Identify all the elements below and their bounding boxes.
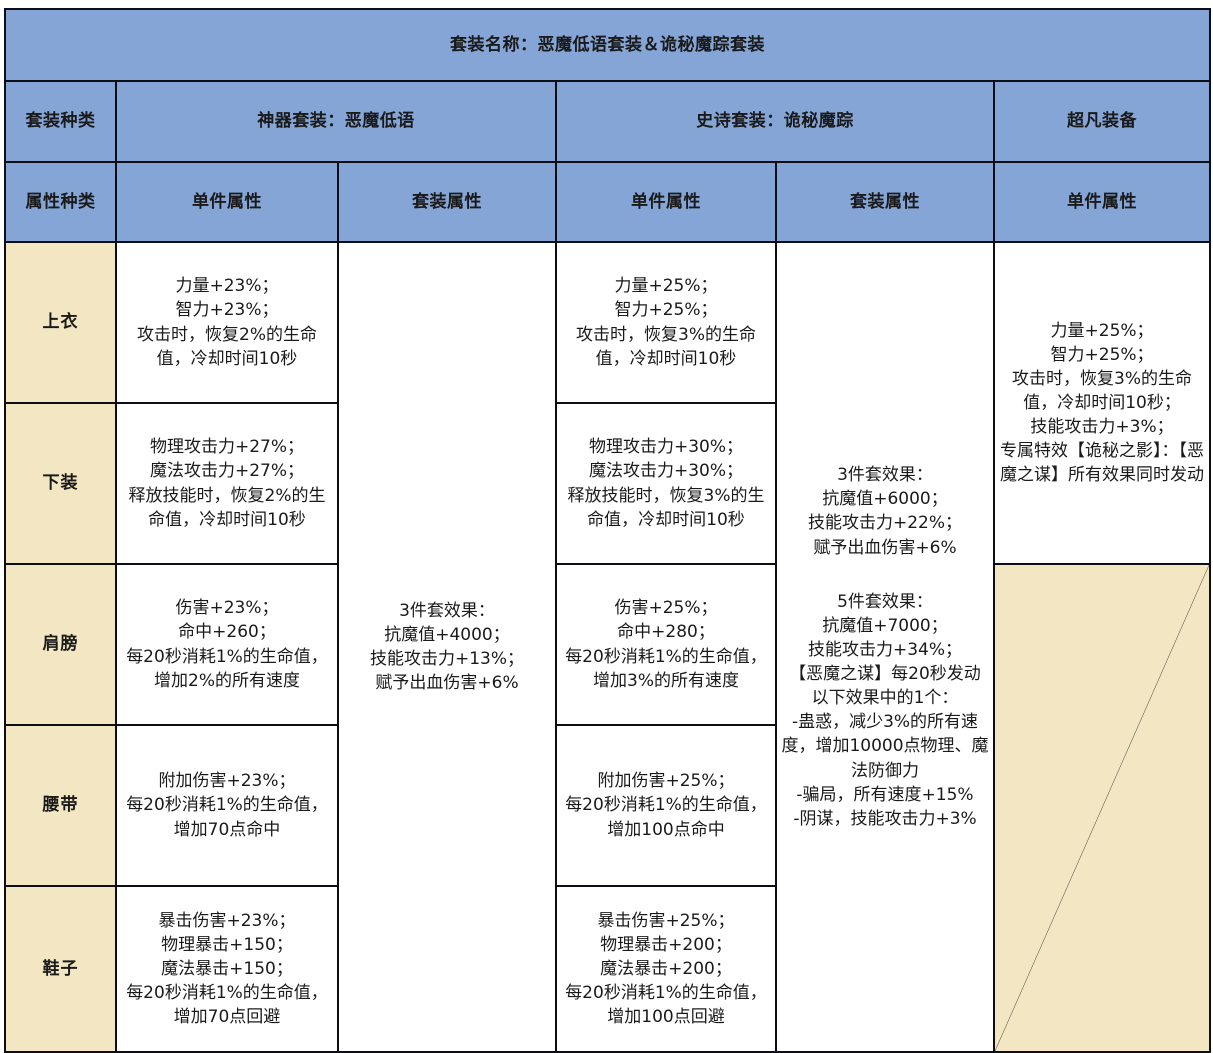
table-row: 肩膀 伤害+23%； 命中+260； 每20秒消耗1%的生命值，增加2%的所有速… [5, 564, 1210, 725]
part-label-top: 上衣 [5, 242, 116, 403]
artifact-single-top: 力量+23%； 智力+23%； 攻击时，恢复2%的生命值，冷却时间10秒 [116, 242, 338, 403]
epic-set-three-piece: 3件套效果： 抗魔值+6000； 技能攻击力+22%； 赋予出血伤害+6% [781, 461, 989, 562]
diagonal-strike-icon [995, 565, 1209, 1051]
epic-single-shoulder: 伤害+25%； 命中+280； 每20秒消耗1%的生命值，增加3%的所有速度 [556, 564, 776, 725]
header-artifact-single-attr: 单件属性 [116, 162, 338, 242]
header-set-category-label: 套装种类 [5, 81, 116, 162]
header-row-set-kind: 套装种类 神器套装：恶魔低语 史诗套装：诡秘魔踪 超凡装备 [5, 81, 1210, 162]
transcendent-empty-cell [994, 564, 1210, 1052]
epic-set-effect: 3件套效果： 抗魔值+6000； 技能攻击力+22%； 赋予出血伤害+6% 5件… [776, 242, 994, 1052]
header-epic-set-attr: 套装属性 [776, 162, 994, 242]
artifact-single-belt: 附加伤害+23%； 每20秒消耗1%的生命值，增加70点命中 [116, 725, 338, 886]
part-label-shoulder: 肩膀 [5, 564, 116, 725]
artifact-set-effect: 3件套效果： 抗魔值+4000； 技能攻击力+13%； 赋予出血伤害+6% [338, 242, 556, 1052]
set-comparison-table: 套装名称：恶魔低语套装＆诡秘魔踪套装 套装种类 神器套装：恶魔低语 史诗套装：诡… [4, 8, 1211, 1053]
epic-single-shoes: 暴击伤害+25%； 物理暴击+200； 魔法暴击+200； 每20秒消耗1%的生… [556, 886, 776, 1052]
transcendent-single-effect: 力量+25%； 智力+25%； 攻击时，恢复3%的生命值，冷却时间10秒； 技能… [994, 242, 1210, 564]
header-attr-category-label: 属性种类 [5, 162, 116, 242]
epic-single-top: 力量+25%； 智力+25%； 攻击时，恢复3%的生命值，冷却时间10秒 [556, 242, 776, 403]
header-epic-single-attr: 单件属性 [556, 162, 776, 242]
table-row: 上衣 力量+23%； 智力+23%； 攻击时，恢复2%的生命值，冷却时间10秒 … [5, 242, 1210, 403]
header-artifact-set-attr: 套装属性 [338, 162, 556, 242]
table-title-row: 套装名称：恶魔低语套装＆诡秘魔踪套装 [5, 9, 1210, 81]
header-group-artifact: 神器套装：恶魔低语 [116, 81, 556, 162]
part-label-bottom: 下装 [5, 403, 116, 564]
set-comparison-sheet: 套装名称：恶魔低语套装＆诡秘魔踪套装 套装种类 神器套装：恶魔低语 史诗套装：诡… [0, 8, 1213, 1030]
part-label-shoes: 鞋子 [5, 886, 116, 1052]
header-row-attr-kind: 属性种类 单件属性 套装属性 单件属性 套装属性 单件属性 [5, 162, 1210, 242]
header-transcendent-single-attr: 单件属性 [994, 162, 1210, 242]
header-group-epic: 史诗套装：诡秘魔踪 [556, 81, 994, 162]
epic-set-five-piece: 5件套效果： 抗魔值+7000； 技能攻击力+34%； 【恶魔之谋】每20秒发动… [781, 588, 989, 833]
artifact-single-shoes: 暴击伤害+23%； 物理暴击+150； 魔法暴击+150； 每20秒消耗1%的生… [116, 886, 338, 1052]
epic-single-belt: 附加伤害+25%； 每20秒消耗1%的生命值，增加100点命中 [556, 725, 776, 886]
part-label-belt: 腰带 [5, 725, 116, 886]
artifact-single-bottom: 物理攻击力+27%； 魔法攻击力+27%； 释放技能时，恢复2%的生命值，冷却时… [116, 403, 338, 564]
epic-single-bottom: 物理攻击力+30%； 魔法攻击力+30%； 释放技能时，恢复3%的生命值，冷却时… [556, 403, 776, 564]
header-group-transcendent: 超凡装备 [994, 81, 1210, 162]
page-title: 套装名称：恶魔低语套装＆诡秘魔踪套装 [5, 9, 1210, 81]
artifact-single-shoulder: 伤害+23%； 命中+260； 每20秒消耗1%的生命值，增加2%的所有速度 [116, 564, 338, 725]
